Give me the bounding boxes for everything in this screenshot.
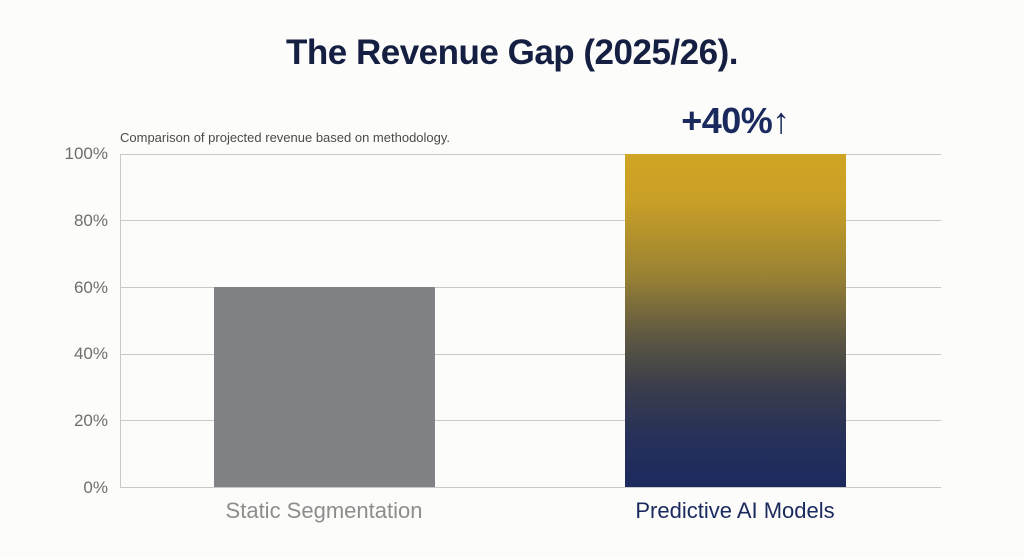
plot-area (120, 154, 941, 487)
y-tick-label-80: 80% (8, 211, 108, 231)
x-tick-label-predictive-ai-models: Predictive AI Models (595, 498, 875, 524)
y-tick-label-40: 40% (8, 344, 108, 364)
y-tick-label-60: 60% (8, 278, 108, 298)
growth-annotation: +40%↑ (625, 100, 846, 142)
x-tick-label-static-segmentation: Static Segmentation (184, 498, 464, 524)
y-tick-label-20: 20% (8, 411, 108, 431)
page-title: The Revenue Gap (2025/26). (0, 33, 1024, 73)
bar-static-segmentation[interactable] (214, 287, 435, 487)
chart-subtitle: Comparison of projected revenue based on… (120, 130, 450, 145)
y-tick-label-0: 0% (8, 478, 108, 498)
y-axis-tick-labels: 100% 80% 60% 40% 20% 0% (0, 154, 108, 488)
bar-predictive-ai-models[interactable] (625, 154, 846, 487)
y-tick-label-100: 100% (8, 144, 108, 164)
gridline-0 (120, 487, 941, 488)
